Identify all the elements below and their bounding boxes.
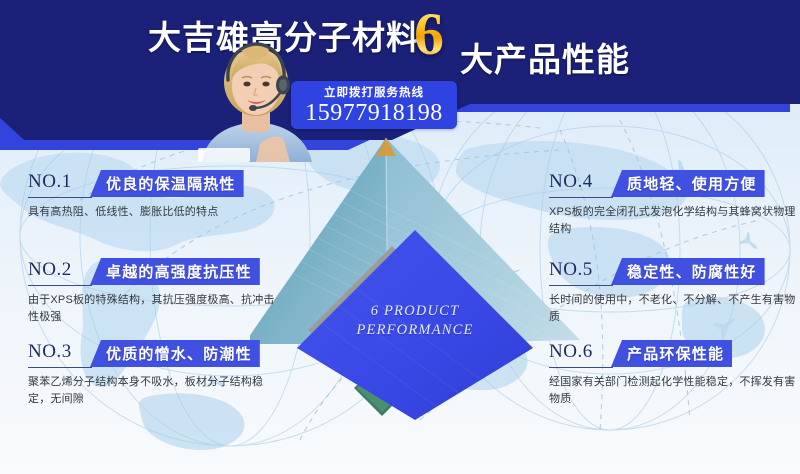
feature-number-underline bbox=[549, 197, 613, 198]
feature-number: NO.3 bbox=[28, 341, 72, 363]
feature-header: NO.4 质地轻、使用方便 bbox=[549, 170, 800, 198]
feature-header: NO.1 优良的保温隔热性 bbox=[28, 170, 290, 198]
big-number-six: 6 bbox=[414, 4, 444, 64]
page-subtitle: 大产品性能 bbox=[460, 33, 630, 81]
feature-number: NO.6 bbox=[549, 341, 593, 363]
feature-description: 长时间的使用中，不老化、不分解、不产生有害物质 bbox=[549, 292, 799, 326]
feature-number-underline bbox=[28, 197, 92, 198]
feature-title-ribbon: 稳定性、防腐性好 bbox=[611, 258, 765, 285]
product-performance-banner: 大吉雄高分子材料 6 大产品性能 bbox=[0, 0, 800, 474]
feature-number-underline bbox=[28, 367, 92, 368]
feature-item-1: NO.1 优良的保温隔热性 具有高热阻、低线性、膨胀比低的特点 bbox=[28, 170, 290, 221]
feature-header: NO.2 卓越的高强度抗压性 bbox=[28, 258, 290, 286]
feature-header: NO.3 优质的憎水、防潮性 bbox=[28, 340, 290, 368]
feature-title: 质地轻、使用方便 bbox=[627, 173, 757, 194]
feature-number: NO.5 bbox=[549, 259, 593, 281]
feature-header: NO.6 产品环保性能 bbox=[549, 340, 800, 368]
feature-item-6: NO.6 产品环保性能 经国家有关部门检测起化学性能稳定，不挥发有害物质 bbox=[549, 340, 800, 408]
feature-number: NO.4 bbox=[549, 171, 593, 193]
feature-number-underline bbox=[28, 285, 92, 286]
feature-item-5: NO.5 稳定性、防腐性好 长时间的使用中，不老化、不分解、不产生有害物质 bbox=[549, 258, 800, 326]
feature-title: 优良的保温隔热性 bbox=[106, 173, 236, 194]
feature-description: 经国家有关部门检测起化学性能稳定，不挥发有害物质 bbox=[549, 374, 799, 408]
feature-title: 稳定性、防腐性好 bbox=[627, 261, 757, 282]
feature-description: 具有高热阻、低线性、膨胀比低的特点 bbox=[28, 204, 278, 221]
feature-number-underline bbox=[549, 367, 613, 368]
hotline-box[interactable]: 立即拨打服务热线 15977918198 bbox=[291, 81, 457, 129]
feature-description: 由于XPS板的特殊结构，其抗压强度极高、抗冲击性极强 bbox=[28, 292, 278, 326]
feature-item-2: NO.2 卓越的高强度抗压性 由于XPS板的特殊结构，其抗压强度极高、抗冲击性极… bbox=[28, 258, 290, 326]
feature-title-ribbon: 质地轻、使用方便 bbox=[611, 170, 765, 197]
feature-number-underline bbox=[549, 285, 613, 286]
center-pyramid-graphic: 6 PRODUCT PERFORMANCE bbox=[250, 130, 580, 420]
feature-item-4: NO.4 质地轻、使用方便 XPS板的完全闭孔式发泡化学结构与其蜂窝状物理结构 bbox=[549, 170, 800, 238]
feature-title-ribbon: 产品环保性能 bbox=[611, 340, 732, 367]
feature-number: NO.2 bbox=[28, 259, 72, 281]
feature-title: 卓越的高强度抗压性 bbox=[106, 261, 252, 282]
feature-number: NO.1 bbox=[28, 171, 72, 193]
feature-title-ribbon: 优质的憎水、防潮性 bbox=[90, 340, 260, 367]
feature-description: 聚苯乙烯分子结构本身不吸水，板材分子结构稳定，无间隙 bbox=[28, 374, 278, 408]
feature-title: 产品环保性能 bbox=[627, 343, 724, 364]
feature-header: NO.5 稳定性、防腐性好 bbox=[549, 258, 800, 286]
hotline-label: 立即拨打服务热线 bbox=[291, 84, 457, 100]
feature-item-3: NO.3 优质的憎水、防潮性 聚苯乙烯分子结构本身不吸水，板材分子结构稳定，无间… bbox=[28, 340, 290, 408]
hotline-number: 15977918198 bbox=[291, 100, 457, 126]
feature-description: XPS板的完全闭孔式发泡化学结构与其蜂窝状物理结构 bbox=[549, 204, 799, 238]
feature-title: 优质的憎水、防潮性 bbox=[106, 343, 252, 364]
feature-title-ribbon: 卓越的高强度抗压性 bbox=[90, 258, 260, 285]
feature-title-ribbon: 优良的保温隔热性 bbox=[90, 170, 244, 197]
